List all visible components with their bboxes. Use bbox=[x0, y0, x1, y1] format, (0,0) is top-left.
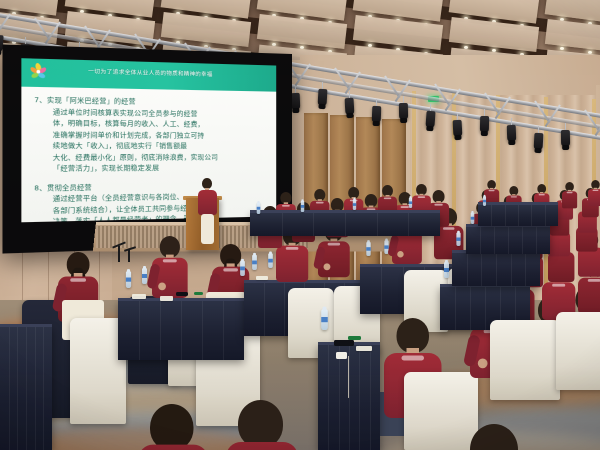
skirt-fold bbox=[328, 344, 329, 450]
skirt-fold bbox=[480, 226, 481, 254]
polo-shirt bbox=[578, 278, 600, 314]
skirt-fold bbox=[467, 252, 468, 286]
microphone-stand bbox=[118, 246, 120, 262]
banquet-table bbox=[250, 212, 440, 236]
polo-shirt bbox=[226, 442, 298, 450]
skirt-fold bbox=[35, 326, 36, 450]
smartphone bbox=[194, 292, 203, 295]
polo-collar bbox=[163, 259, 177, 261]
microphone-stand bbox=[128, 250, 130, 262]
polo-shirt bbox=[562, 191, 577, 208]
folded-napkin bbox=[356, 346, 372, 351]
polo-shirt bbox=[138, 445, 208, 450]
skirt-fold bbox=[481, 252, 482, 286]
skirt-fold bbox=[536, 226, 537, 254]
phone-charger bbox=[336, 352, 347, 359]
polo-collar bbox=[511, 196, 517, 197]
skirt-fold bbox=[408, 212, 409, 236]
polo-collar bbox=[402, 356, 425, 360]
skirt-fold bbox=[377, 212, 378, 236]
skirt-fold bbox=[491, 204, 492, 226]
water-bottle bbox=[471, 212, 475, 224]
skirt-fold bbox=[370, 344, 371, 450]
skirt-fold bbox=[531, 204, 532, 226]
skirt-fold bbox=[381, 266, 382, 314]
polo-collar bbox=[552, 284, 565, 286]
skirt-fold bbox=[284, 282, 285, 336]
skirt-fold bbox=[26, 326, 27, 450]
charger-cable bbox=[348, 356, 350, 398]
water-bottle bbox=[483, 196, 486, 206]
skirt-fold bbox=[43, 326, 44, 450]
skirt-fold bbox=[223, 300, 224, 360]
water-bottle bbox=[366, 242, 370, 256]
skirt-fold bbox=[17, 326, 18, 450]
polo-collar bbox=[401, 206, 409, 207]
skirt-fold bbox=[9, 326, 10, 450]
polo-collar bbox=[489, 190, 495, 191]
polo-shirt bbox=[276, 246, 308, 282]
smartphone bbox=[176, 292, 188, 296]
table-top-edge bbox=[0, 324, 52, 327]
folded-napkin bbox=[132, 294, 146, 299]
polo-collar bbox=[434, 204, 442, 205]
skirt-fold bbox=[545, 204, 546, 226]
banquet-table bbox=[466, 226, 550, 254]
banquet-table bbox=[452, 252, 540, 286]
water-bottle bbox=[257, 202, 261, 214]
smartphone bbox=[348, 336, 361, 340]
folded-napkin bbox=[256, 276, 268, 280]
polo-collar bbox=[70, 278, 86, 281]
banquet-table bbox=[118, 300, 244, 360]
water-bottle bbox=[252, 255, 257, 270]
head bbox=[238, 400, 283, 448]
polo-collar bbox=[593, 190, 599, 191]
polo-collar bbox=[286, 247, 299, 249]
skirt-fold bbox=[455, 286, 456, 330]
water-bottle bbox=[142, 268, 147, 284]
polo-collar bbox=[539, 194, 545, 195]
water-bottle bbox=[321, 309, 328, 330]
polo-collar bbox=[384, 197, 391, 198]
water-bottle bbox=[456, 232, 460, 246]
skirt-fold bbox=[511, 252, 512, 286]
skirt-fold bbox=[525, 252, 526, 286]
audience-area bbox=[0, 0, 600, 450]
chair-white-cover bbox=[556, 312, 600, 390]
skirt-fold bbox=[345, 212, 346, 236]
skirt-fold bbox=[359, 344, 360, 450]
polo-collar bbox=[443, 227, 455, 229]
polo-collar bbox=[328, 243, 340, 245]
conference-hall-photo: 一切为了追求全体从业人员的物质和精神的幸福 7、实现「阿米巴经营」的经营通过单位… bbox=[0, 0, 600, 450]
chair-white-cover bbox=[490, 320, 560, 400]
table-top-edge bbox=[250, 210, 440, 213]
polo-collar bbox=[418, 196, 425, 197]
water-bottle bbox=[353, 199, 356, 210]
skirt-fold bbox=[518, 204, 519, 226]
water-bottle bbox=[126, 271, 131, 288]
skirt-fold bbox=[522, 226, 523, 254]
skirt-fold bbox=[313, 212, 314, 236]
skirt-fold bbox=[282, 212, 283, 236]
banquet-table bbox=[0, 326, 52, 450]
water-bottle bbox=[240, 261, 245, 276]
polo-shirt bbox=[588, 189, 600, 206]
skirt-fold bbox=[160, 300, 161, 360]
skirt-fold bbox=[496, 252, 497, 286]
head bbox=[150, 404, 194, 450]
water-bottle bbox=[409, 197, 412, 208]
banquet-table bbox=[478, 204, 558, 226]
polo-collar bbox=[567, 192, 573, 193]
table-top-edge bbox=[478, 202, 558, 205]
skirt-fold bbox=[470, 286, 471, 330]
polo-collar bbox=[588, 279, 600, 281]
skirt-fold bbox=[505, 204, 506, 226]
skirt-fold bbox=[264, 282, 265, 336]
skirt-fold bbox=[202, 300, 203, 360]
smartphone bbox=[334, 340, 354, 346]
skirt-fold bbox=[181, 300, 182, 360]
polo-collar bbox=[223, 268, 238, 270]
water-bottle bbox=[268, 253, 273, 268]
water-bottle bbox=[301, 201, 305, 212]
water-bottle bbox=[444, 262, 449, 278]
chair-white-cover bbox=[404, 372, 478, 450]
skirt-fold bbox=[339, 344, 340, 450]
folded-napkin bbox=[160, 296, 173, 301]
skirt-fold bbox=[485, 286, 486, 330]
polo-collar bbox=[282, 205, 290, 206]
hand bbox=[158, 283, 166, 291]
polo-collar bbox=[316, 202, 324, 203]
hand bbox=[324, 263, 331, 270]
polo-shirt bbox=[548, 252, 574, 282]
hand bbox=[397, 251, 404, 258]
skirt-fold bbox=[494, 226, 495, 254]
hand bbox=[478, 359, 488, 369]
polo-shirt bbox=[578, 248, 600, 277]
skirt-fold bbox=[139, 300, 140, 360]
skirt-fold bbox=[508, 226, 509, 254]
